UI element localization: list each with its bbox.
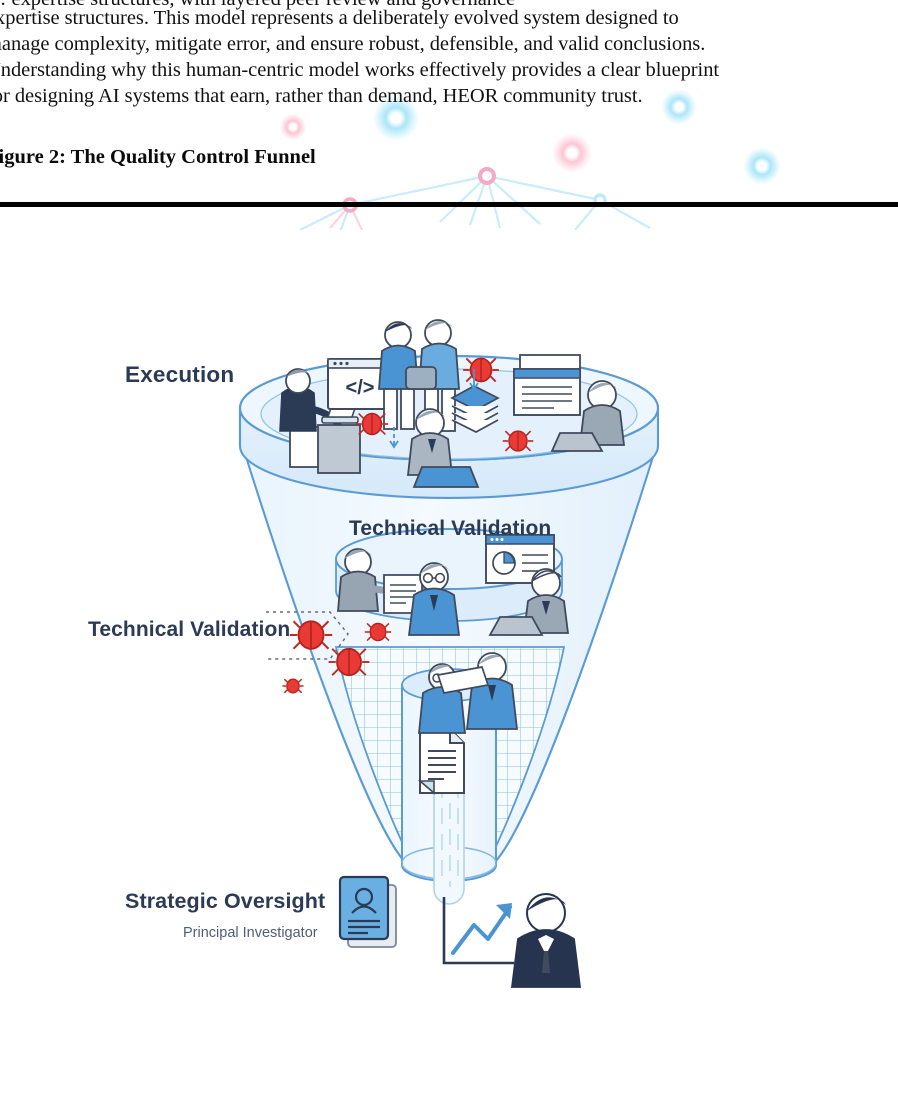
growth-chart-icon (444, 897, 514, 963)
document-icon (420, 729, 464, 793)
tier-label-strategic-oversight: Strategic Oversight (125, 889, 325, 914)
tier-label-technical-validation-center: Technical Validation (349, 517, 551, 541)
tier-label-execution: Execution (125, 362, 234, 388)
paragraph-line: expertise structures. This model represe… (0, 7, 898, 30)
tier-sublabel-principal-investigator: Principal Investigator (183, 925, 318, 941)
bug-icon (282, 679, 303, 693)
browser-window-icon (514, 355, 580, 415)
paragraph-line: manage complexity, mitigate error, and e… (0, 33, 898, 56)
paragraph-line: for designing AI systems that earn, rath… (0, 85, 898, 108)
bug-icon (365, 623, 392, 640)
funnel-illustration-svg: </> (0, 207, 898, 1107)
quality-control-funnel-figure: </> (0, 207, 898, 1107)
paragraph-line: Understanding why this human-centric mod… (0, 59, 898, 82)
bug-icon (503, 431, 534, 451)
bug-icon (463, 358, 499, 381)
strategic-oversight-scene (444, 894, 580, 1107)
document-text-block: … expertise structures, with layered pee… (0, 0, 898, 204)
horizontal-rule (0, 202, 898, 207)
principal-investigator-figure (512, 894, 580, 987)
svg-text:</>: </> (346, 377, 375, 399)
bug-icon (356, 414, 388, 435)
figure-caption: Figure 2: The Quality Control Funnel (0, 146, 898, 169)
id-card-icon (340, 877, 396, 947)
tier-label-technical-validation-left: Technical Validation (88, 618, 290, 642)
